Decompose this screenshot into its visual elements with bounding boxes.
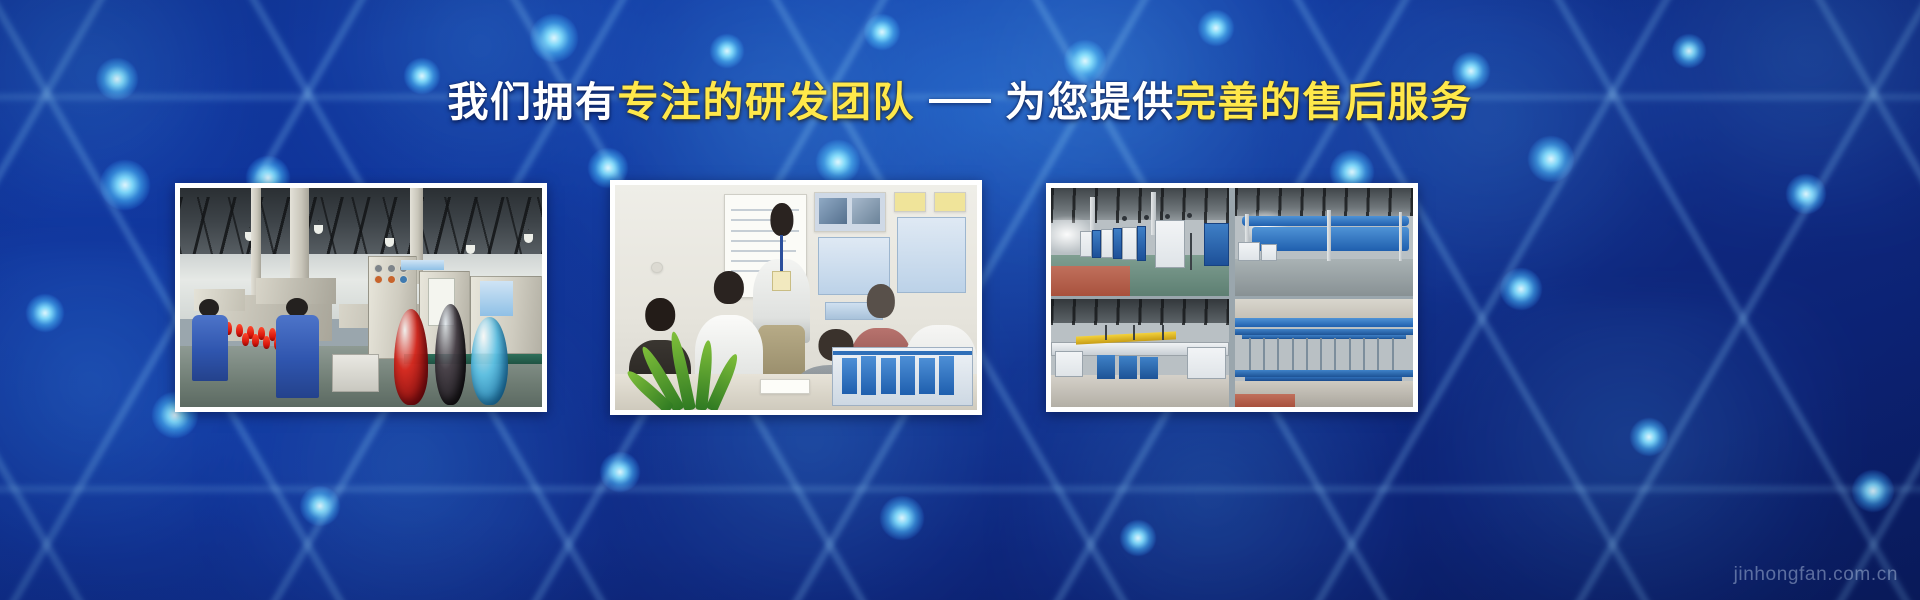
headline-segment-white-1: 我们拥有 bbox=[448, 79, 618, 125]
lattice-node bbox=[1120, 520, 1156, 556]
gallery-photo-panel-rnd-meeting[interactable] bbox=[610, 180, 982, 415]
photo-gallery bbox=[0, 180, 1920, 418]
headline-segment-yellow-1: 专注的研发团队 bbox=[618, 79, 916, 125]
product-vase-red bbox=[394, 309, 429, 405]
lattice-node bbox=[600, 452, 640, 492]
photo-production-line bbox=[180, 188, 542, 407]
gallery-photo-panel-plant-collage[interactable] bbox=[1046, 183, 1418, 412]
lattice-node bbox=[1672, 34, 1706, 68]
headline-segment-white-2: 为您提供 bbox=[1005, 79, 1175, 125]
collage-cell-hanging-rack bbox=[1235, 299, 1413, 407]
lattice-node bbox=[300, 486, 340, 526]
headline-divider-dash bbox=[929, 99, 991, 103]
foreground-plant bbox=[644, 334, 745, 411]
photo-plant-collage bbox=[1051, 188, 1413, 407]
lattice-node bbox=[816, 140, 860, 184]
gallery-photo-panel-production-line[interactable] bbox=[175, 183, 547, 412]
collage-cell-conveyor bbox=[1051, 299, 1229, 407]
lattice-node bbox=[530, 14, 578, 62]
site-watermark: jinhongfan.com.cn bbox=[1734, 564, 1898, 586]
product-vase-dark bbox=[435, 304, 466, 405]
promo-banner: 我们拥有专注的研发团队为您提供完善的售后服务 bbox=[0, 0, 1920, 600]
page-title: 我们拥有专注的研发团队为您提供完善的售后服务 bbox=[0, 82, 1920, 123]
product-vase-blue bbox=[471, 317, 507, 405]
lattice-node bbox=[880, 496, 924, 540]
lattice-node bbox=[1630, 418, 1668, 456]
headline-segment-yellow-2: 完善的售后服务 bbox=[1175, 79, 1473, 125]
inset-machine-photo bbox=[832, 347, 973, 406]
collage-cell-blue-duct bbox=[1235, 188, 1413, 296]
lattice-node bbox=[1198, 10, 1234, 46]
lattice-node bbox=[1528, 136, 1574, 182]
lattice-node bbox=[1852, 470, 1894, 512]
collage-cell-spray-booth bbox=[1051, 188, 1229, 296]
lattice-node bbox=[1064, 40, 1106, 82]
photo-rnd-meeting bbox=[615, 185, 977, 410]
lattice-node bbox=[864, 14, 900, 50]
lattice-node bbox=[710, 34, 744, 68]
